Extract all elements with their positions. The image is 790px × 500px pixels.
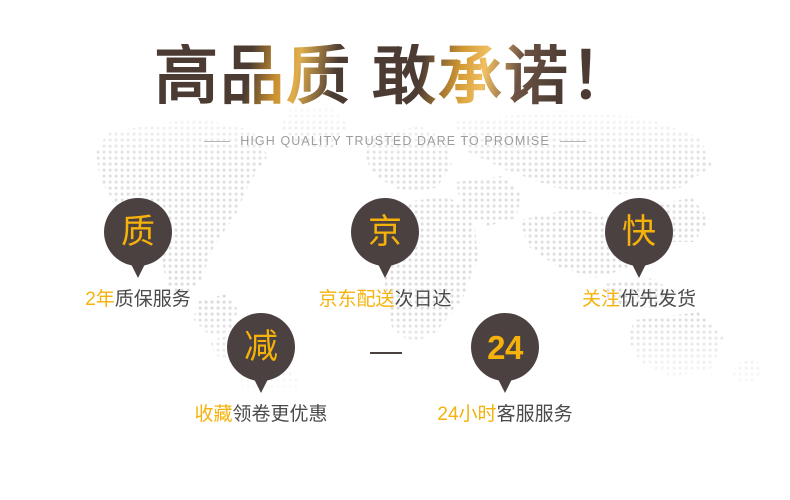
feature-item-priority-shipping: 快 关注优先发货 bbox=[564, 198, 714, 309]
caption-highlight: 2年 bbox=[85, 289, 115, 310]
caption-rest: 次日达 bbox=[395, 289, 452, 310]
pin-glyph-label: 快 bbox=[605, 198, 673, 266]
caption-rest: 质保服务 bbox=[115, 289, 191, 310]
feature-item-warranty: 质 2年质保服务 bbox=[63, 198, 213, 309]
subtitle-row: HIGH QUALITY TRUSTED DARE TO PROMISE bbox=[0, 134, 790, 148]
pin-glyph-label: 质 bbox=[104, 198, 172, 266]
feature-item-delivery: 京 京东配送次日达 bbox=[310, 198, 460, 309]
row-divider bbox=[370, 352, 402, 354]
subtitle-text: HIGH QUALITY TRUSTED DARE TO PROMISE bbox=[240, 134, 550, 148]
caption-rest: 领卷更优惠 bbox=[233, 404, 328, 425]
feature-item-support: 24 24小时客服服务 bbox=[430, 313, 580, 424]
promo-banner: 高品质 敢承诺！ HIGH QUALITY TRUSTED DARE TO PR… bbox=[0, 0, 790, 500]
subtitle-rule-left bbox=[204, 141, 230, 142]
map-pin-icon: 减 bbox=[227, 313, 295, 381]
caption-highlight: 收藏 bbox=[194, 404, 232, 425]
subtitle-rule-right bbox=[560, 141, 586, 142]
feature-caption: 2年质保服务 bbox=[63, 290, 213, 309]
headline-block: 高品质 敢承诺！ bbox=[0, 44, 790, 108]
pin-glyph-label: 减 bbox=[227, 313, 295, 381]
feature-caption: 24小时客服服务 bbox=[430, 405, 580, 424]
page-title: 高品质 敢承诺！ bbox=[154, 44, 636, 108]
caption-rest: 客服服务 bbox=[497, 404, 573, 425]
pin-glyph-label: 京 bbox=[351, 198, 419, 266]
map-pin-icon: 京 bbox=[351, 198, 419, 266]
feature-caption: 收藏领卷更优惠 bbox=[186, 405, 336, 424]
map-pin-icon: 快 bbox=[605, 198, 673, 266]
caption-rest: 优先发货 bbox=[620, 289, 696, 310]
feature-caption: 京东配送次日达 bbox=[310, 290, 460, 309]
caption-highlight: 关注 bbox=[582, 289, 620, 310]
pin-glyph-label: 24 bbox=[471, 313, 539, 381]
caption-highlight: 24小时 bbox=[437, 404, 496, 425]
caption-highlight: 京东配送 bbox=[318, 289, 394, 310]
map-pin-icon: 24 bbox=[471, 313, 539, 381]
feature-caption: 关注优先发货 bbox=[564, 290, 714, 309]
map-pin-icon: 质 bbox=[104, 198, 172, 266]
feature-item-coupon: 减 收藏领卷更优惠 bbox=[186, 313, 336, 424]
